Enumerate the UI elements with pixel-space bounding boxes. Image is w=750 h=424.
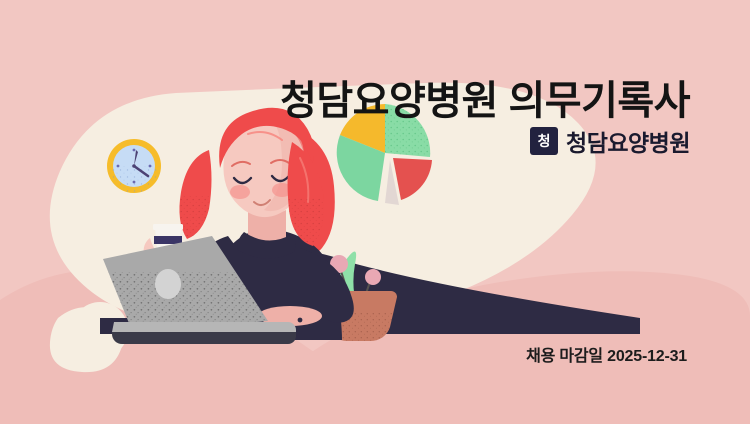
wall-clock-illustration [107, 139, 161, 193]
cup-band-upper [154, 236, 182, 244]
clock-tick-9 [117, 165, 120, 168]
flower-bloom-2 [365, 269, 381, 285]
laptop-logo [155, 269, 181, 299]
cheek-left [230, 185, 250, 199]
clock-tick-3 [149, 165, 152, 168]
clock-tick-12 [133, 149, 136, 152]
job-posting-banner: 청담요양병원 의무기록사 청 청담요양병원 채용 마감일 2025-12-31 [0, 0, 750, 424]
hand-detail [298, 318, 303, 323]
cream-blob-accent-2 [50, 307, 123, 372]
banner-illustration [0, 0, 750, 424]
laptop-base-shadow [112, 332, 296, 344]
clock-tick-6 [133, 181, 136, 184]
clock-center-pin [132, 164, 136, 168]
cup-lid [153, 224, 183, 230]
